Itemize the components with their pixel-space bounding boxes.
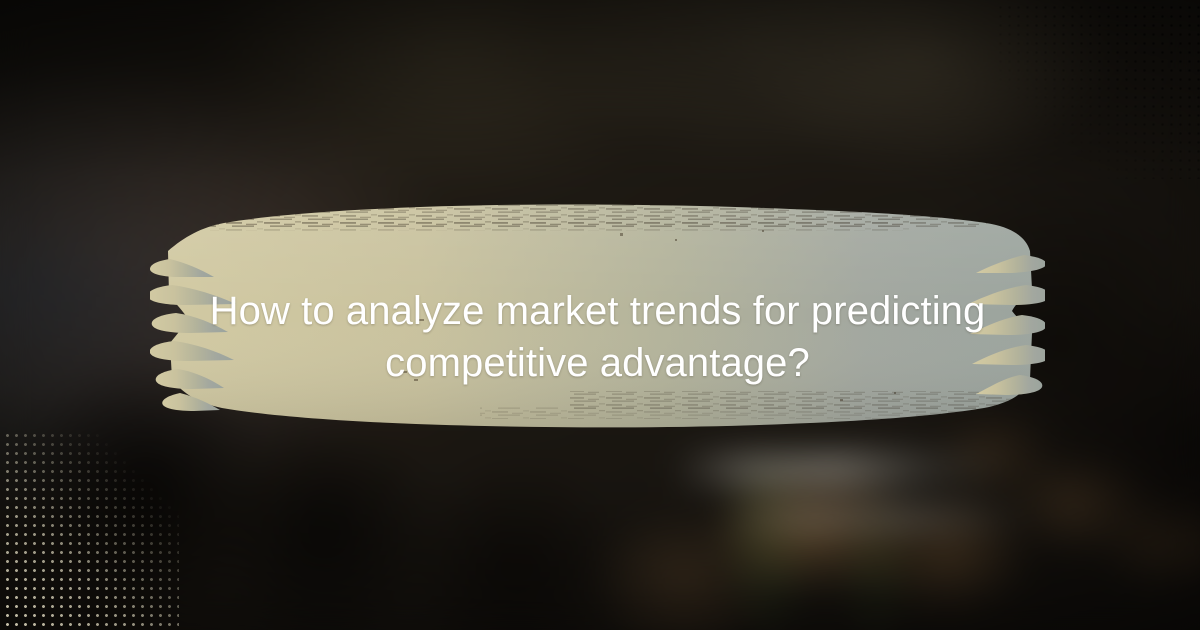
halftone-dots-bottom-left-icon [0, 431, 179, 630]
halftone-dots-top-right-icon [996, 0, 1200, 179]
headline-line-2: competitive advantage? [385, 337, 810, 389]
social-share-card: How to analyze market trends for predict… [0, 0, 1200, 630]
headline-line-1: How to analyze market trends for predict… [210, 285, 986, 337]
headline-block: How to analyze market trends for predict… [150, 193, 1045, 438]
